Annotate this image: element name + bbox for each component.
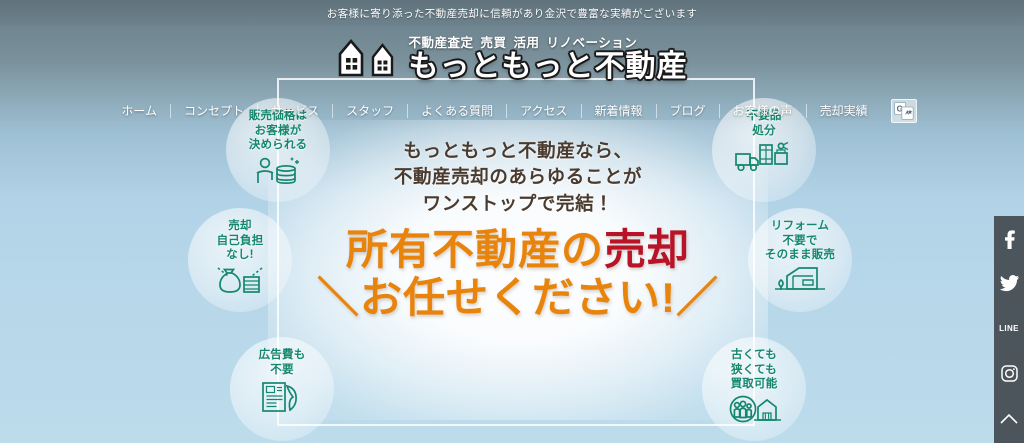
person-coins-icon: [252, 156, 304, 191]
announcement-text: お客様に寄り添った不動産売却に信頼があり金沢で豊富な実績がございます: [327, 6, 698, 21]
truck-disposal-icon: [734, 141, 794, 178]
family-house-icon: [725, 395, 783, 430]
google-translate-icon[interactable]: G: [891, 99, 917, 123]
bubble-label: リフォーム 不要で そのまま販売: [765, 219, 835, 263]
nav-home[interactable]: ホーム: [107, 104, 171, 118]
logo-tagline-item-4: リノベーション: [547, 32, 638, 51]
site-logo[interactable]: 不動産査定 売買 活用 リノベーション もっともっと不動産: [0, 28, 1024, 86]
nav-track-record[interactable]: 売却実績: [807, 104, 881, 118]
nav-faq[interactable]: よくある質問: [408, 104, 507, 118]
house-logo-icon: [337, 36, 400, 78]
bubble-label: 売却 自己負担 なし!: [217, 219, 264, 263]
bubble-old-small-ok[interactable]: 古くても 狭くても 買取可能: [702, 337, 806, 441]
logo-text-block: 不動産査定 売買 活用 リノベーション もっともっと不動産: [409, 32, 688, 82]
chevron-up-icon: [1000, 413, 1018, 425]
hero-headline-owned-property: 所有不動産: [346, 226, 561, 273]
logo-tagline-item-2: 売買: [481, 32, 507, 51]
nav-news[interactable]: 新着情報: [582, 104, 657, 118]
house-asis-icon: [773, 266, 827, 297]
social-twitter[interactable]: [994, 261, 1024, 306]
hero-sub-line-1: もっともっと不動産なら、: [268, 138, 768, 164]
money-bag-none-icon: [215, 266, 265, 299]
bubble-no-reform-needed[interactable]: リフォーム 不要で そのまま販売: [748, 208, 852, 312]
nav-service[interactable]: サービス: [258, 104, 333, 118]
bubble-no-self-payment[interactable]: 売却 自己負担 なし!: [188, 208, 292, 312]
logo-tagline-item-1: 不動産査定: [409, 32, 474, 51]
twitter-icon: [1000, 275, 1019, 292]
social-rail: LINE: [994, 216, 1024, 443]
hero-subheading: もっともっと不動産なら、 不動産売却のあらゆることが ワンストップで完結！: [268, 138, 768, 217]
logo-tagline-item-3: 活用: [514, 32, 540, 51]
nav-staff[interactable]: スタッフ: [333, 104, 408, 118]
hero-headline-particle: の: [561, 226, 604, 273]
instagram-icon: [1001, 365, 1018, 382]
nav-blog[interactable]: ブログ: [657, 104, 720, 118]
facebook-icon: [1003, 229, 1015, 249]
nav-concept[interactable]: コンセプト: [171, 104, 258, 118]
hero-copy: もっともっと不動産なら、 不動産売却のあらゆることが ワンストップで完結！ 所有…: [268, 138, 768, 321]
line-icon: LINE: [999, 324, 1019, 333]
nav-access[interactable]: アクセス: [507, 104, 581, 118]
hero-sub-line-3: ワンストップで完結！: [268, 191, 768, 217]
announcement-bar: お客様に寄り添った不動産売却に信頼があり金沢で豊富な実績がございます: [0, 0, 1024, 26]
newspaper-ad-icon: [260, 380, 304, 419]
logo-name: もっともっと不動産: [409, 52, 688, 82]
hero-sub-line-2: 不動産売却のあらゆることが: [268, 164, 768, 190]
scroll-to-top[interactable]: [994, 396, 1024, 441]
social-instagram[interactable]: [994, 351, 1024, 396]
bubble-label: 古くても 狭くても 買取可能: [731, 348, 778, 392]
hero-page: お客様に寄り添った不動産売却に信頼があり金沢で豊富な実績がございます 不動産査定: [0, 0, 1024, 443]
bubble-no-ad-cost[interactable]: 広告費も 不要: [230, 337, 334, 441]
logo-tagline: 不動産査定 売買 活用 リノベーション: [409, 32, 638, 51]
social-facebook[interactable]: [994, 216, 1024, 261]
hero-headline-line-1: 所有不動産の売却: [268, 228, 768, 273]
nav-testimonials[interactable]: お客様の声: [720, 104, 807, 118]
hero-headline-line-2: ＼お任せください!／: [268, 276, 768, 321]
main-navigation: ホーム コンセプト サービス スタッフ よくある質問 アクセス 新着情報 ブログ…: [0, 98, 1024, 124]
social-line[interactable]: LINE: [994, 306, 1024, 351]
bubble-label: 広告費も 不要: [259, 348, 306, 377]
hero-headline-sale: 売却: [604, 226, 690, 273]
